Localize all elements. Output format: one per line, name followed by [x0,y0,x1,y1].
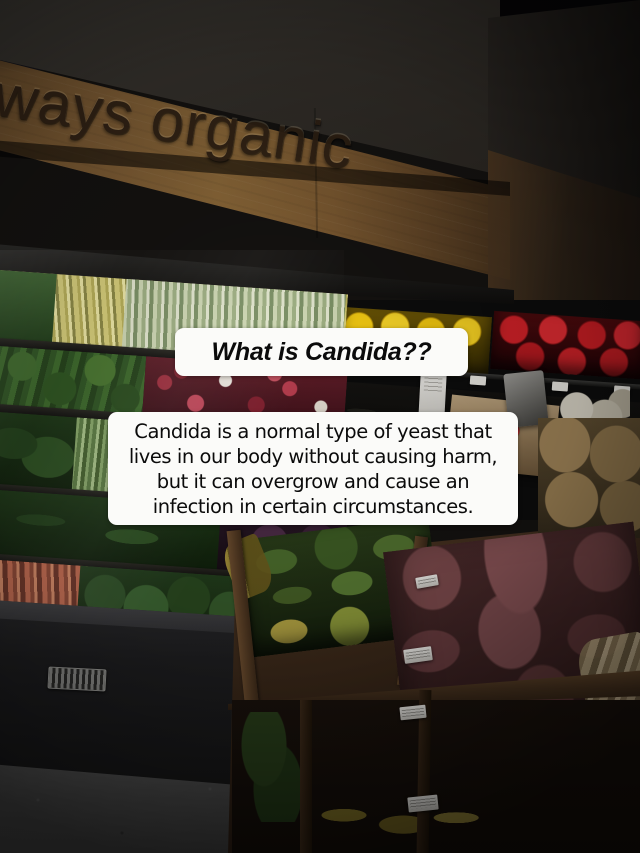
title-caption-box: What is Candida?? [175,328,468,376]
title-caption-text: What is Candida?? [212,338,432,367]
price-card [470,375,487,385]
body-caption-text: Candida is a normal type of yeast that l… [129,419,497,519]
red-bell-peppers [490,311,640,379]
bin-price-tag [407,794,438,812]
cubby-produce [310,790,480,853]
cubby-greens [236,712,306,822]
bin-price-tag [399,705,426,721]
potatoes-bin [538,418,640,538]
cubby-divider [300,700,312,853]
body-caption-box: Candida is a normal type of yeast that l… [108,412,518,525]
dark-greens [0,270,57,346]
case-vent-grille [47,666,106,691]
video-frame: lways organic [0,0,640,853]
